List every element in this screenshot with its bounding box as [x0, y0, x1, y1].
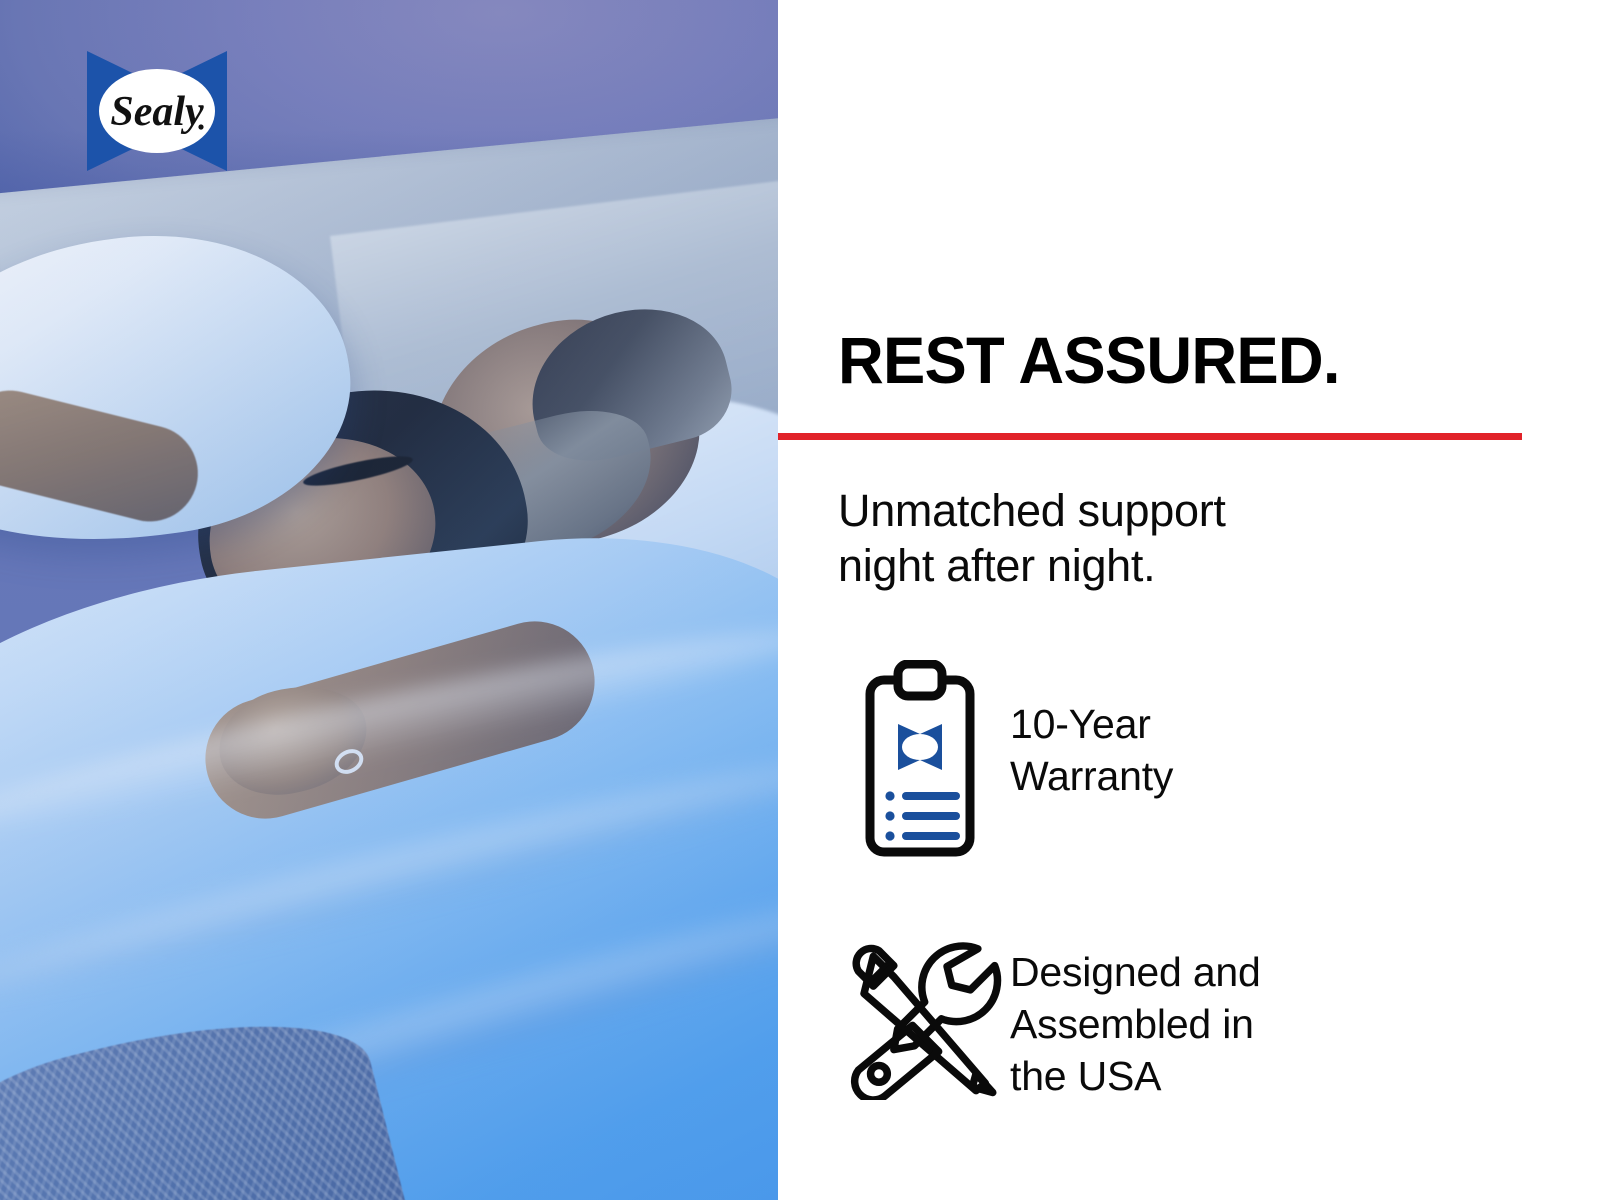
feature-item-warranty: 10-Year Warranty	[830, 660, 1530, 860]
feature-label-usa: Designed and Assembled in the USA	[1010, 932, 1530, 1102]
pencil-wrench-icon	[830, 932, 1010, 1100]
feature-label-warranty: 10-Year Warranty	[1010, 660, 1530, 802]
sealy-logo: Sealy	[83, 45, 231, 177]
subheadline: Unmatched support night after night.	[838, 484, 1226, 594]
advertisement-root: Sealy REST ASSURED. Unmatched support ni…	[0, 0, 1600, 1200]
feature-list: 10-Year Warranty	[830, 660, 1530, 1102]
headline: REST ASSURED.	[838, 327, 1340, 393]
lifestyle-photo: Sealy	[0, 0, 778, 1200]
clipboard-warranty-icon	[830, 660, 1010, 860]
feature-item-usa: Designed and Assembled in the USA	[830, 932, 1530, 1102]
content-panel: REST ASSURED. Unmatched support night af…	[778, 0, 1600, 1200]
sealy-wordmark: Sealy	[110, 89, 204, 135]
red-divider	[778, 433, 1522, 440]
